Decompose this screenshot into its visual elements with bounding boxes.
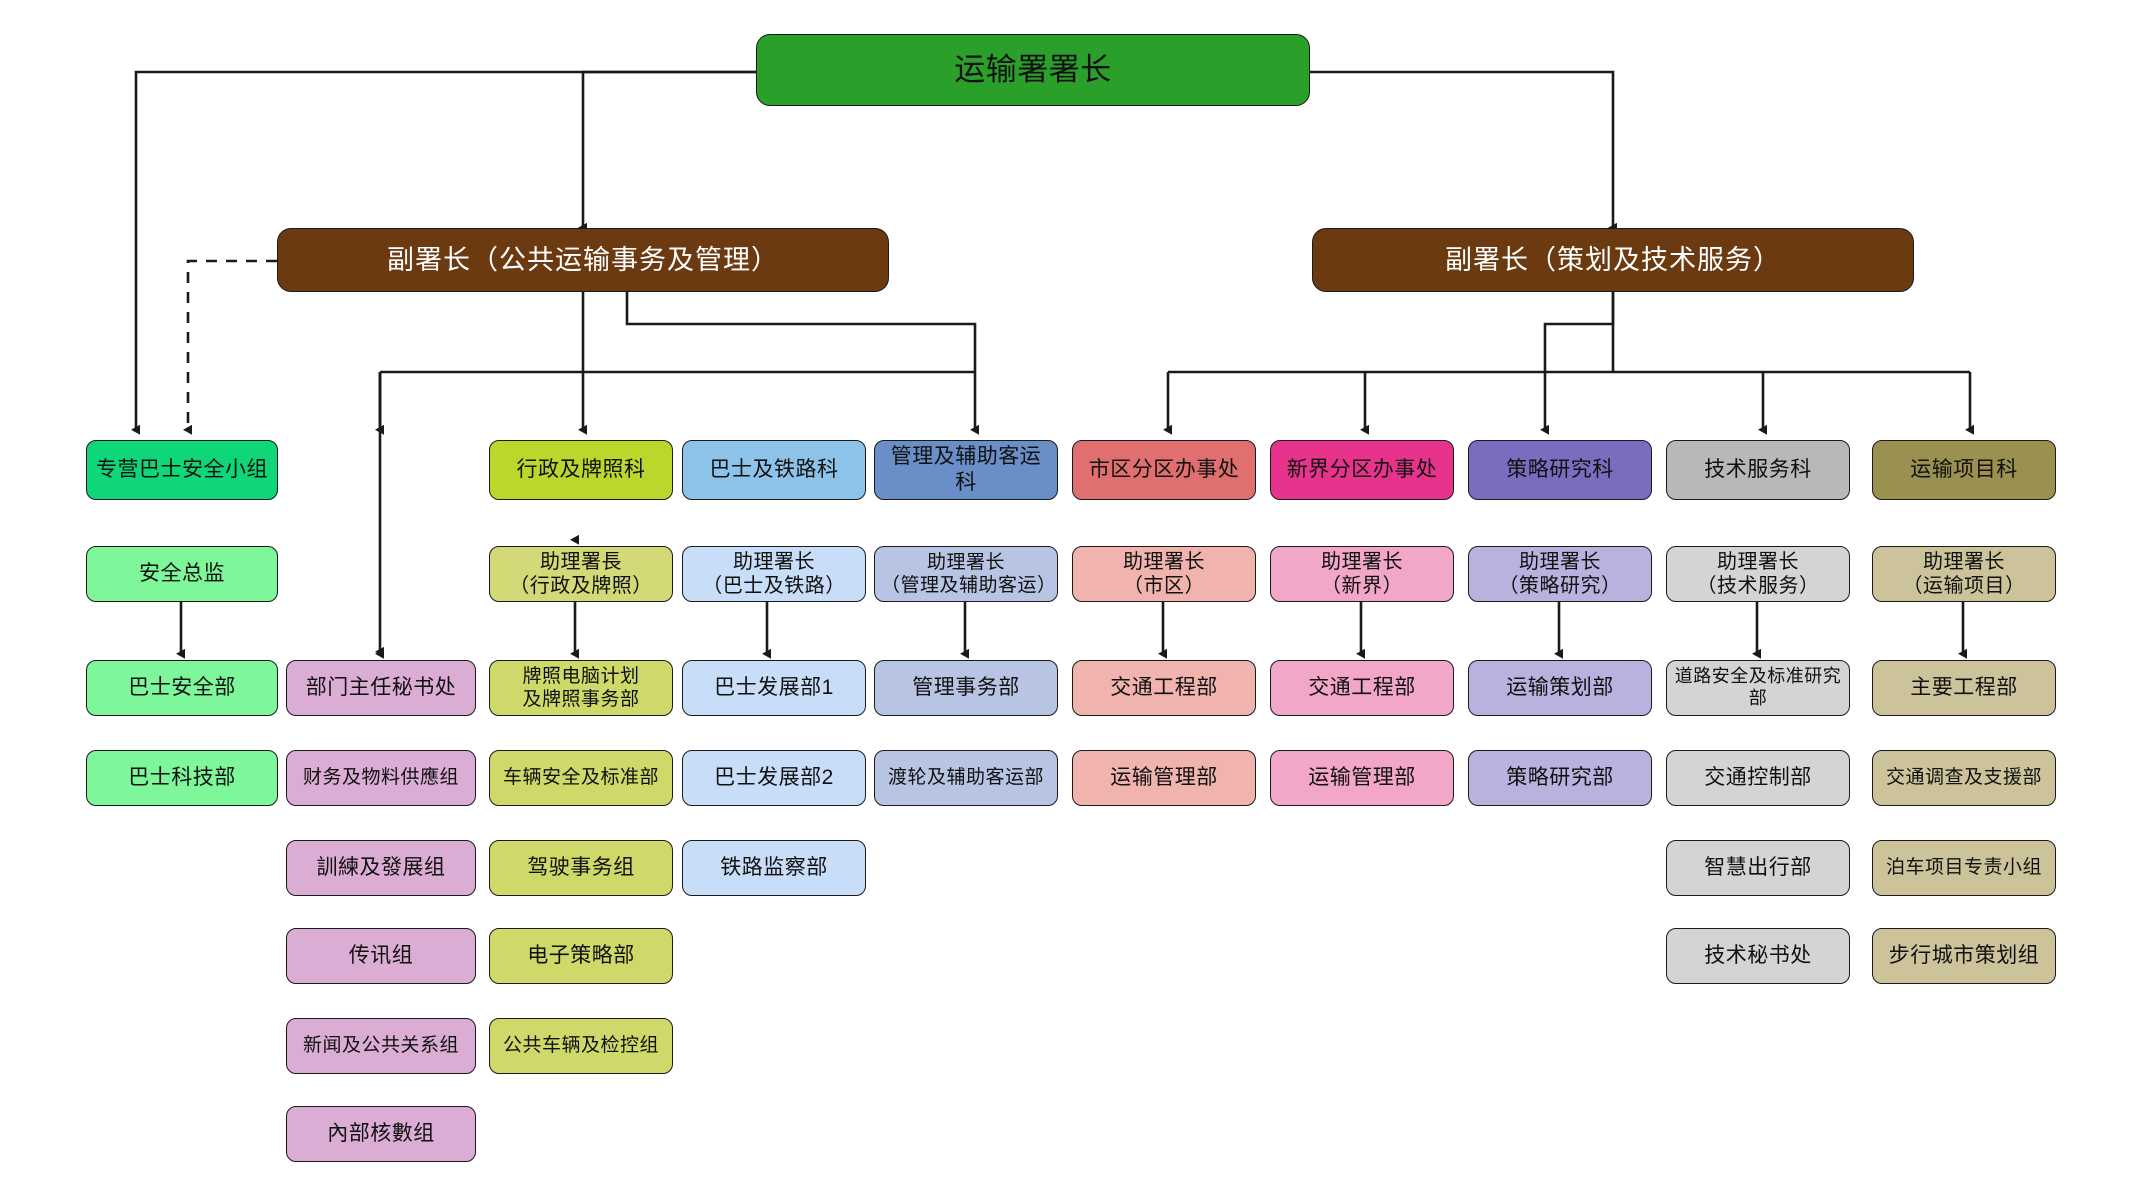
node-deputy-planning-technical[interactable]: 副署长（策划及技术服务） — [1312, 228, 1914, 292]
node-electronic-strategy-dept[interactable]: 电子策略部 — [489, 928, 673, 984]
node-internal-audit-unit[interactable]: 內部核數组 — [286, 1106, 476, 1162]
node-management-auxiliary-division[interactable]: 管理及辅助客运科 — [874, 440, 1058, 500]
node-technical-secretariat[interactable]: 技术秘书处 — [1666, 928, 1850, 984]
node-assistant-technical[interactable]: 助理署长 （技术服务） — [1666, 546, 1850, 602]
edge-public-left-branch — [380, 291, 583, 372]
node-licensing-computer-dept[interactable]: 牌照电脑计划 及牌照事务部 — [489, 660, 673, 716]
node-press-public-relations-unit[interactable]: 新闻及公共关系组 — [286, 1018, 476, 1074]
node-assistant-nt[interactable]: 助理署长 （新界） — [1270, 546, 1454, 602]
edge-root-to-deputy-public — [583, 72, 756, 228]
node-franchised-bus-safety-unit[interactable]: 专营巴士安全小组 — [86, 440, 278, 500]
node-parking-project-task-force[interactable]: 泊车项目专责小组 — [1872, 840, 2056, 896]
node-nt-district-office[interactable]: 新界分区办事处 — [1270, 440, 1454, 500]
node-ferry-auxiliary-transport-dept[interactable]: 渡轮及辅助客运部 — [874, 750, 1058, 806]
node-management-affairs-dept[interactable]: 管理事务部 — [874, 660, 1058, 716]
node-major-works-dept[interactable]: 主要工程部 — [1872, 660, 2056, 716]
node-nt-traffic-engineering-dept[interactable]: 交通工程部 — [1270, 660, 1454, 716]
node-assistant-management-auxiliary[interactable]: 助理署长 （管理及辅助客运） — [874, 546, 1058, 602]
node-safety-director[interactable]: 安全总监 — [86, 546, 278, 602]
node-smart-mobility-dept[interactable]: 智慧出行部 — [1666, 840, 1850, 896]
node-technical-services-division[interactable]: 技术服务科 — [1666, 440, 1850, 500]
node-urban-transport-management-dept[interactable]: 运输管理部 — [1072, 750, 1256, 806]
node-bus-rail-division[interactable]: 巴士及铁路科 — [682, 440, 866, 500]
edge-root-to-deputy-planning — [1310, 72, 1613, 228]
node-assistant-admin-licensing[interactable]: 助理署長 （行政及牌照） — [489, 546, 673, 602]
node-transport-planning-dept[interactable]: 运输策划部 — [1468, 660, 1652, 716]
node-transport-projects-division[interactable]: 运输项目科 — [1872, 440, 2056, 500]
node-urban-district-office[interactable]: 市区分区办事处 — [1072, 440, 1256, 500]
node-assistant-strategy[interactable]: 助理署长 （策略研究） — [1468, 546, 1652, 602]
node-bus-technology-dept[interactable]: 巴士科技部 — [86, 750, 278, 806]
node-traffic-control-dept[interactable]: 交通控制部 — [1666, 750, 1850, 806]
node-road-safety-standards-dept[interactable]: 道路安全及标准研究部 — [1666, 660, 1850, 716]
node-assistant-projects[interactable]: 助理署长 （运输项目） — [1872, 546, 2056, 602]
node-deputy-public-transport[interactable]: 副署长（公共运输事务及管理） — [277, 228, 889, 292]
node-bus-development-dept-1[interactable]: 巴士发展部1 — [682, 660, 866, 716]
node-urban-traffic-engineering-dept[interactable]: 交通工程部 — [1072, 660, 1256, 716]
node-strategy-research-division[interactable]: 策略研究科 — [1468, 440, 1652, 500]
node-admin-licensing-division[interactable]: 行政及牌照科 — [489, 440, 673, 500]
node-assistant-urban[interactable]: 助理署长 （市区） — [1072, 546, 1256, 602]
node-communications-unit[interactable]: 传讯组 — [286, 928, 476, 984]
node-nt-transport-management-dept[interactable]: 运输管理部 — [1270, 750, 1454, 806]
edge-deputy-public-to-franchised-bus-dashed — [188, 261, 277, 430]
node-walkable-city-planning-unit[interactable]: 步行城市策划组 — [1872, 928, 2056, 984]
node-finance-supplies-unit[interactable]: 财务及物料供應组 — [286, 750, 476, 806]
org-chart-canvas: 运输署署长 副署长（公共运输事务及管理） 副署长（策划及技术服务） 专营巴士安全… — [0, 0, 2142, 1200]
node-public-vehicles-prosecution-unit[interactable]: 公共车辆及检控组 — [489, 1018, 673, 1074]
edge-public-right-branch — [627, 291, 975, 372]
node-rail-monitoring-dept[interactable]: 铁路监察部 — [682, 840, 866, 896]
node-assistant-bus-rail[interactable]: 助理署长 （巴士及铁路） — [682, 546, 866, 602]
node-traffic-survey-support-dept[interactable]: 交通调查及支援部 — [1872, 750, 2056, 806]
node-departmental-secretariat[interactable]: 部门主任秘书处 — [286, 660, 476, 716]
node-driving-affairs-unit[interactable]: 驾驶事务组 — [489, 840, 673, 896]
node-director[interactable]: 运输署署长 — [756, 34, 1310, 106]
node-vehicle-safety-standards-dept[interactable]: 车辆安全及标准部 — [489, 750, 673, 806]
node-strategy-research-dept[interactable]: 策略研究部 — [1468, 750, 1652, 806]
edge-planning-trunk — [1545, 291, 1613, 372]
node-training-development-unit[interactable]: 訓練及發展组 — [286, 840, 476, 896]
node-bus-safety-dept[interactable]: 巴士安全部 — [86, 660, 278, 716]
node-bus-development-dept-2[interactable]: 巴士发展部2 — [682, 750, 866, 806]
